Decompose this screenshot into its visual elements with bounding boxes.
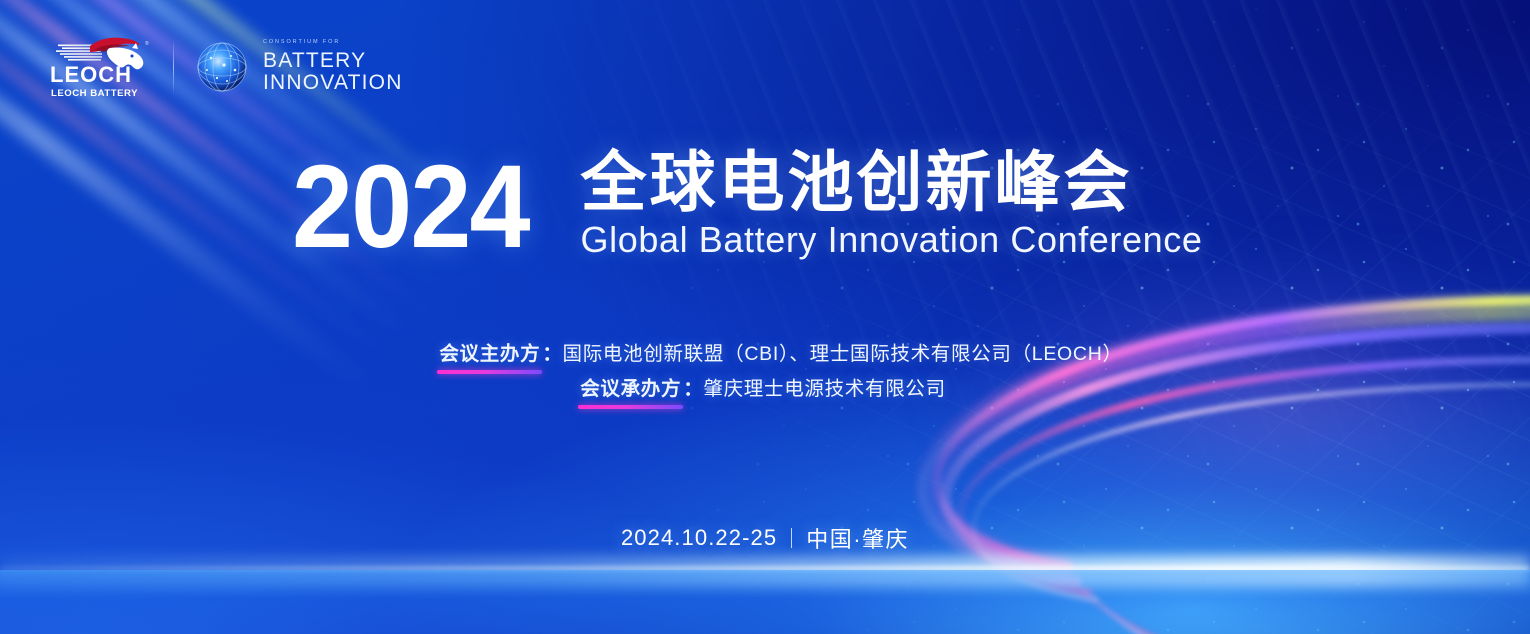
title-english: Global Battery Innovation Conference [581,220,1203,260]
event-date: 2024.10.22-25 [621,525,777,551]
cbi-line-battery: BATTERY [263,50,403,72]
logo-bar: ® LEOCH LEOCH BATTERY [44,34,403,100]
organizer-label-undertaker: 会议承办方 [578,373,683,408]
conference-banner: ® LEOCH LEOCH BATTERY [0,0,1530,634]
logo-divider [173,39,174,95]
event-location: 中国·肇庆 [806,522,909,554]
leoch-tagline: LEOCH BATTERY [51,88,138,99]
network-globe-icon [191,36,253,98]
organizer-value-host: 国际电池创新联盟（CBI）、理士国际技术有限公司（LEOCH） [563,338,1123,370]
organizer-colon-undertaker: ： [683,373,703,405]
datebar-separator [791,528,792,548]
title-block: 2024 全球电池创新峰会 Global Battery Innovation … [292,148,1252,262]
organizer-value-undertaker: 肇庆理士电源技术有限公司 [703,373,945,405]
organizer-label-host: 会议主办方 [437,338,542,373]
svg-text:®: ® [145,40,149,47]
cbi-line-innovation: INNOVATION [263,72,403,94]
cbi-text-block: CONSORTIUM FOR BATTERY INNOVATION [263,40,403,94]
organizer-colon-host: ： [542,338,562,370]
cbi-logo: CONSORTIUM FOR BATTERY INNOVATION [191,36,403,98]
organizer-block: 会议主办方 ： 国际电池创新联盟（CBI）、理士国际技术有限公司（LEOCH） … [0,338,1530,408]
organizer-row-undertaker: 会议承办方 ： 肇庆理士电源技术有限公司 [0,373,1530,408]
event-datebar: 2024.10.22-25 中国·肇庆 [0,522,1530,554]
leoch-logo: ® LEOCH LEOCH BATTERY [44,34,156,100]
event-year: 2024 [292,153,529,262]
cbi-kicker: CONSORTIUM FOR [263,40,403,46]
leoch-wordmark: LEOCH [50,62,132,87]
title-chinese: 全球电池创新峰会 [581,148,1203,218]
organizer-row-host: 会议主办方 ： 国际电池创新联盟（CBI）、理士国际技术有限公司（LEOCH） [30,338,1530,373]
floor-glow-decoration [0,570,1530,634]
